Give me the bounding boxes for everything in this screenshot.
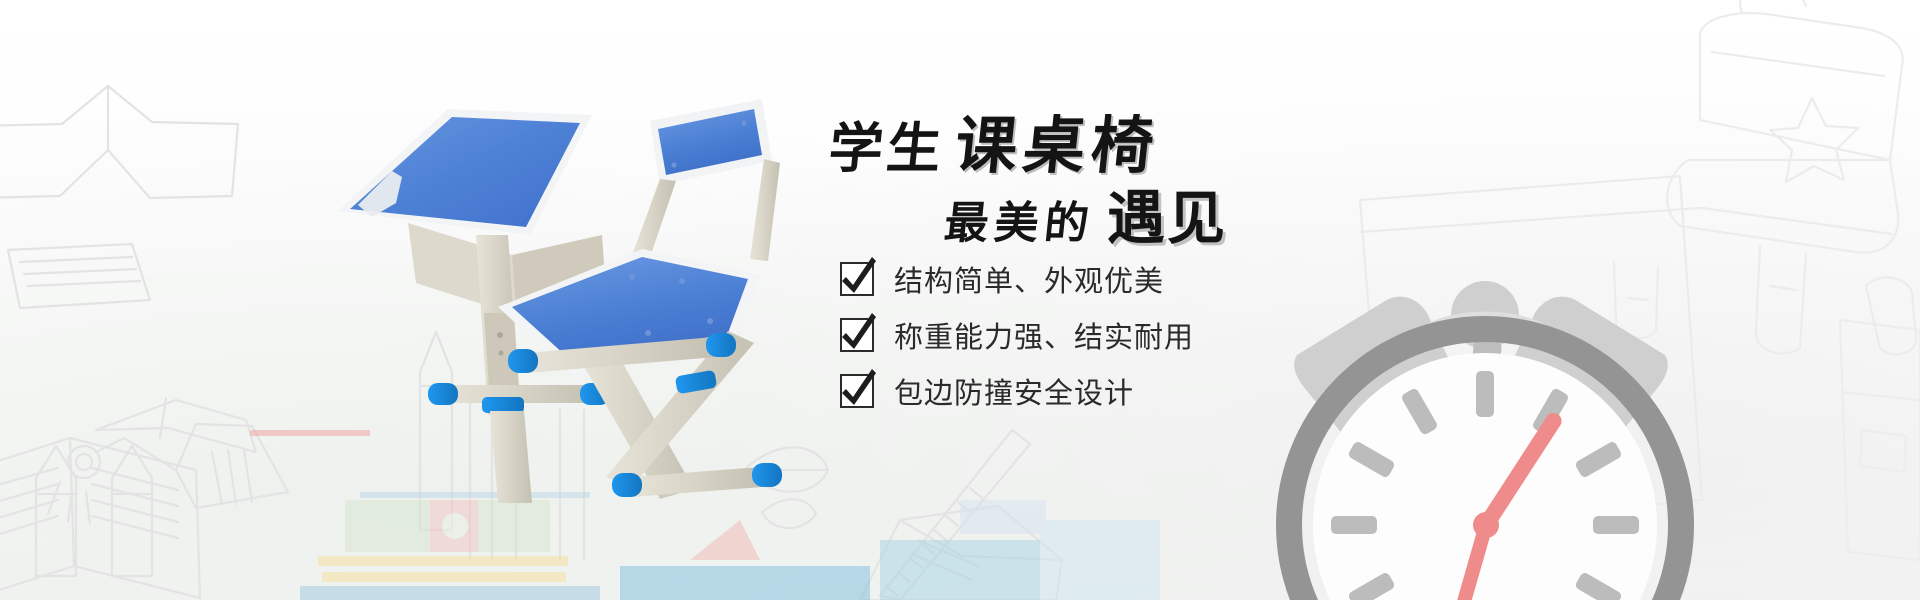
pencil-outline [36,446,76,576]
checkbox-checked-icon [840,318,874,352]
student-desk-chair-banner: 学生课桌椅 最美的遇见 结构简单、外观优美 [0,0,1920,600]
checkbox-checked-icon [840,374,874,408]
checkmark-glyph [839,255,877,295]
open-book-outline [0,86,238,198]
checkmark-glyph [839,367,877,407]
chair-cap-right [706,333,736,357]
headline-strong-text: 遇见 [1107,186,1227,251]
feature-label: 称重能力强、结实耐用 [894,314,1194,356]
desk-chair-svg [330,85,860,505]
feature-item: 称重能力强、结实耐用 [840,309,1194,361]
open-book-outline [0,438,200,598]
student-desk-and-chair-photo [330,85,860,505]
feature-item: 包边防撞安全设计 [840,365,1194,417]
notebook-outline [8,244,150,308]
checkmark-glyph [839,311,877,351]
chair-foot-cap-right [752,463,782,487]
desk-lamp-outline [176,424,288,508]
headline-line-2: 最美的遇见 [945,171,1227,255]
chair-cap-left [508,349,538,373]
open-book-outline [860,506,1062,600]
feature-item: 结构简单、外观优美 [840,253,1194,305]
banner-copy: 学生课桌椅 最美的遇见 结构简单、外观优美 [820,95,1380,240]
headline-soft-text: 最美的 [942,187,1099,251]
clock-svg [1245,195,1725,600]
pencil-outline [112,446,152,576]
feature-list: 结构简单、外观优美 称重能力强、结实耐用 包边防撞安全设计 [840,253,1194,421]
headline: 学生课桌椅 最美的遇见 [820,95,1380,240]
backpack-outline [1700,13,1903,160]
desk-foot-cap-left [428,383,458,405]
star-outline [1770,98,1858,182]
desk-height-collar [482,397,524,413]
chair-foot-cap-left [612,473,642,497]
backpack-outline [1840,320,1920,560]
checkbox-checked-icon [840,262,874,296]
feature-label: 包边防撞安全设计 [894,370,1134,412]
feature-label: 结构简单、外观优美 [894,258,1164,300]
alarm-clock-illustration [1245,195,1725,600]
open-book-outline [96,400,256,452]
headline-plain-text: 学生 [826,116,949,180]
